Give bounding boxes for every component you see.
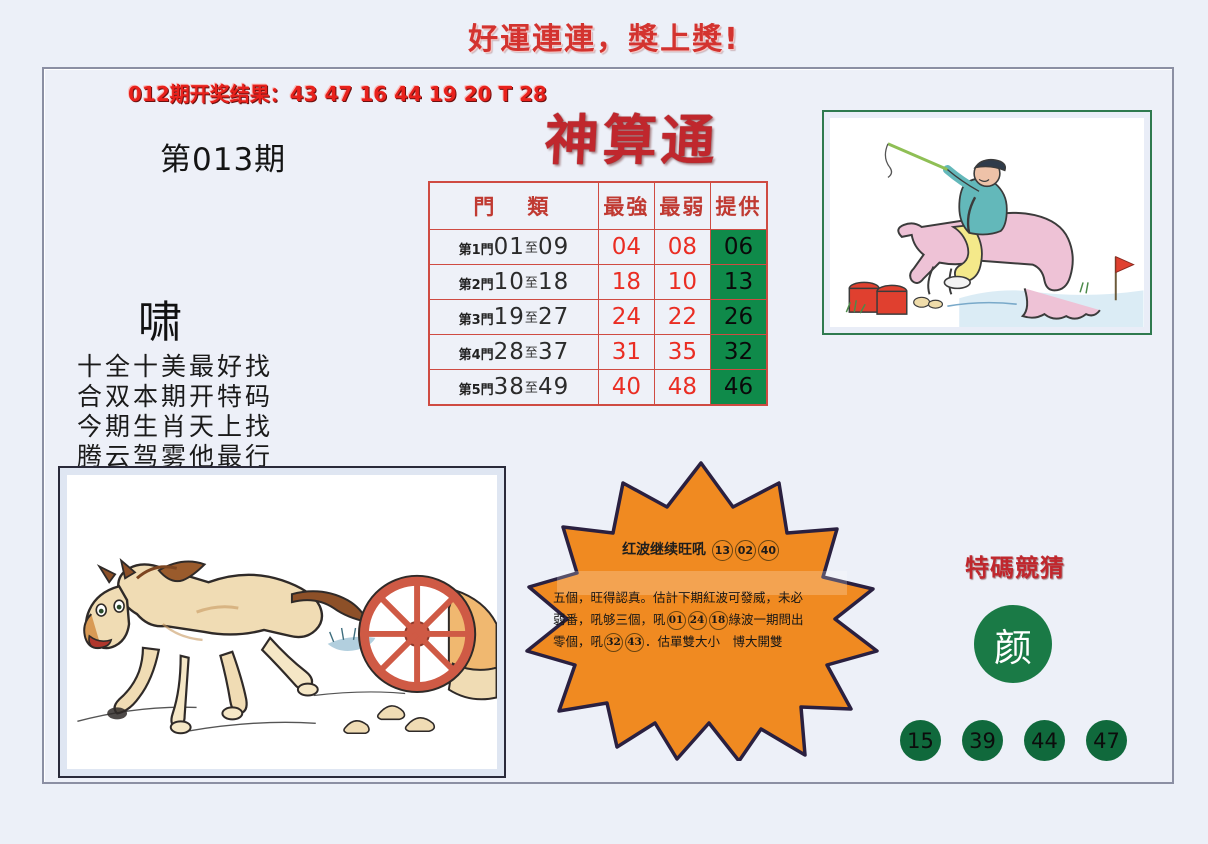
table-row: 第1門01至09 04 08 06 [429, 230, 767, 265]
prediction-table: 門 類 最強 最弱 提供 第1門01至09 04 08 06 第2門10至18 … [428, 181, 768, 406]
gate-label-2: 第2門 [459, 278, 494, 293]
number-ball-2: 39 [962, 720, 1003, 761]
provided-1: 06 [710, 230, 767, 265]
strongest-3: 24 [598, 300, 654, 335]
guess-color-circle: 颜 [974, 605, 1052, 683]
starburst-head-number-3: 40 [758, 540, 779, 561]
row-category-1: 第1門01至09 [429, 230, 598, 265]
starburst-body-line-2: 弱番，吼够三個，吼012418綠波一期問出 [553, 609, 849, 631]
illustration-top-right [830, 118, 1144, 327]
table-row: 第3門19至27 24 22 26 [429, 300, 767, 335]
starburst-line2-number-2: 24 [688, 611, 707, 630]
starburst-line2-number-3: 18 [709, 611, 728, 630]
man-riding-beast-illustration [830, 118, 1144, 327]
starburst-headline-text: 红波继续旺吼 [622, 542, 706, 558]
starburst-line3-text-a: 零個，吼 [553, 634, 603, 649]
gate-label-5: 第5門 [459, 383, 494, 398]
previous-draw-result: 012期开奖结果：43 47 16 44 19 20 T 28 [128, 78, 547, 107]
range-from-3: 19 [494, 304, 525, 330]
starburst-body-line-1: 五個，旺得認真。估計下期紅波可發威，未必 [553, 587, 849, 609]
issue-number: 第013期 [160, 134, 286, 179]
zodiac-keyword: 啸 [0, 286, 320, 350]
number-ball-1: 15 [900, 720, 941, 761]
horse-pulling-cart-illustration [67, 475, 497, 769]
illustration-frame-bottom-left [58, 466, 506, 778]
row-category-2: 第2門10至18 [429, 265, 598, 300]
row-category-3: 第3門19至27 [429, 300, 598, 335]
starburst-line3-text-b: ．估單雙大小 博大開雙 [645, 634, 783, 649]
starburst-line3-number-2: 43 [625, 633, 644, 652]
poem-line-2: 合双本期开特码 [0, 382, 350, 412]
range-from-1: 01 [494, 234, 525, 260]
starburst-callout: 红波继续旺吼 130240 五個，旺得認真。估計下期紅波可發威，未必 弱番，吼够… [521, 461, 881, 761]
range-sep-2: 至 [525, 276, 538, 291]
number-ball-4: 47 [1086, 720, 1127, 761]
range-to-1: 09 [538, 234, 569, 260]
page-banner-slogan: 好運連連，獎上獎! [0, 14, 1208, 58]
range-sep-4: 至 [525, 346, 538, 361]
table-header-row: 門 類 最強 最弱 提供 [429, 182, 767, 230]
starburst-content: 红波继续旺吼 130240 五個，旺得認真。估計下期紅波可發威，未必 弱番，吼够… [521, 461, 881, 761]
illustration-frame-top-right [822, 110, 1152, 335]
illustration-bottom-left [67, 475, 497, 769]
starburst-head-number-1: 13 [712, 540, 733, 561]
provided-5: 46 [710, 370, 767, 406]
recommended-numbers-row: 15 39 44 47 [900, 720, 1160, 766]
gate-label-1: 第1門 [459, 243, 494, 258]
strongest-5: 40 [598, 370, 654, 406]
range-from-5: 38 [494, 374, 525, 400]
starburst-headline: 红波继续旺吼 130240 [521, 539, 881, 561]
row-category-5: 第5門38至49 [429, 370, 598, 406]
prediction-poem: 十全十美最好找 合双本期开特码 今期生肖天上找 腾云驾雾他最行 [0, 352, 350, 472]
table-row: 第4門28至37 31 35 32 [429, 335, 767, 370]
header-weakest: 最弱 [654, 182, 710, 230]
starburst-body: 五個，旺得認真。估計下期紅波可發威，未必 弱番，吼够三個，吼012418綠波一期… [553, 587, 849, 653]
table-row: 第2門10至18 18 10 13 [429, 265, 767, 300]
strongest-1: 04 [598, 230, 654, 265]
provided-3: 26 [710, 300, 767, 335]
range-to-5: 49 [538, 374, 569, 400]
starburst-line2-number-1: 01 [667, 611, 686, 630]
starburst-head-number-2: 02 [735, 540, 756, 561]
starburst-line3-number-1: 32 [604, 633, 623, 652]
table-row: 第5門38至49 40 48 46 [429, 370, 767, 406]
header-strongest: 最強 [598, 182, 654, 230]
brand-logo-title: 神算通 [543, 96, 721, 175]
starburst-line2-text-b: 綠波一期問出 [729, 612, 804, 627]
row-category-4: 第4門28至37 [429, 335, 598, 370]
poem-line-1: 十全十美最好找 [0, 352, 350, 382]
weakest-3: 22 [654, 300, 710, 335]
provided-2: 13 [710, 265, 767, 300]
gate-label-4: 第4門 [459, 348, 494, 363]
weakest-4: 35 [654, 335, 710, 370]
header-provided: 提供 [710, 182, 767, 230]
range-sep-5: 至 [525, 381, 538, 396]
lottery-prediction-page: 好運連連，獎上獎! 012期开奖结果：43 47 16 44 19 20 T 2… [0, 0, 1208, 844]
weakest-1: 08 [654, 230, 710, 265]
range-from-2: 10 [494, 269, 525, 295]
gate-label-3: 第3門 [459, 313, 494, 328]
range-sep-1: 至 [525, 241, 538, 256]
weakest-2: 10 [654, 265, 710, 300]
range-sep-3: 至 [525, 311, 538, 326]
range-to-3: 27 [538, 304, 569, 330]
strongest-2: 18 [598, 265, 654, 300]
starburst-line2-text-a: 弱番，吼够三個，吼 [553, 612, 666, 627]
starburst-body-line-3: 零個，吼3243．估單雙大小 博大開雙 [553, 631, 849, 653]
weakest-5: 48 [654, 370, 710, 406]
range-to-2: 18 [538, 269, 569, 295]
poem-line-3: 今期生肖天上找 [0, 412, 350, 442]
strongest-4: 31 [598, 335, 654, 370]
provided-4: 32 [710, 335, 767, 370]
range-to-4: 37 [538, 339, 569, 365]
range-from-4: 28 [494, 339, 525, 365]
special-code-guess-title: 特碼競猜 [900, 548, 1130, 583]
number-ball-3: 44 [1024, 720, 1065, 761]
header-category: 門 類 [429, 182, 598, 230]
